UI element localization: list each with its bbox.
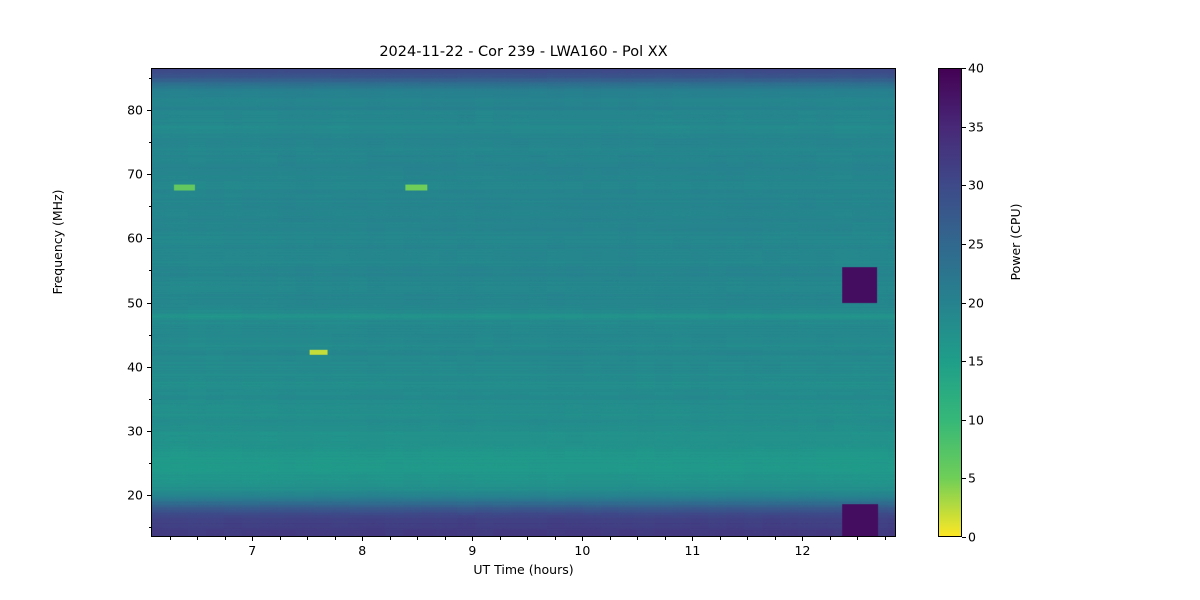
y-axis-tick-label: 70 xyxy=(103,167,143,182)
colorbar-tick xyxy=(962,303,966,304)
x-axis-minor-tick xyxy=(170,537,171,540)
colorbar-tick-label: 5 xyxy=(968,471,976,486)
x-axis-minor-tick xyxy=(637,537,638,540)
x-axis-minor-tick xyxy=(527,537,528,540)
x-axis-minor-tick xyxy=(390,537,391,540)
y-axis-minor-tick xyxy=(149,399,152,400)
x-axis-minor-tick xyxy=(747,537,748,540)
y-axis-tick-label: 40 xyxy=(103,359,143,374)
colorbar-tick-label: 15 xyxy=(968,354,984,369)
y-axis-tick xyxy=(147,303,151,304)
x-axis-tick xyxy=(472,537,473,541)
x-axis-minor-tick xyxy=(445,537,446,540)
x-axis-minor-tick xyxy=(830,537,831,540)
spectrogram-axes[interactable] xyxy=(151,68,896,537)
y-axis-minor-tick xyxy=(149,206,152,207)
y-axis-tick-label: 50 xyxy=(103,295,143,310)
x-axis-minor-tick xyxy=(335,537,336,540)
colorbar-tick xyxy=(962,244,966,245)
x-axis-tick xyxy=(362,537,363,541)
x-axis-minor-tick xyxy=(307,537,308,540)
colorbar-tick-label: 30 xyxy=(968,178,984,193)
y-axis-minor-tick xyxy=(149,527,152,528)
x-axis-tick-label: 7 xyxy=(227,543,277,558)
x-axis-tick xyxy=(582,537,583,541)
x-axis-minor-tick xyxy=(280,537,281,540)
colorbar-tick xyxy=(962,127,966,128)
x-axis-tick-label: 9 xyxy=(447,543,497,558)
y-axis-minor-tick xyxy=(149,78,152,79)
x-axis-minor-tick xyxy=(610,537,611,540)
y-axis-minor-tick xyxy=(149,270,152,271)
y-axis-tick xyxy=(147,431,151,432)
x-axis-minor-tick xyxy=(720,537,721,540)
colorbar-tick xyxy=(962,478,966,479)
page-title: 2024-11-22 - Cor 239 - LWA160 - Pol XX xyxy=(151,44,896,60)
colorbar-tick xyxy=(962,361,966,362)
figure-canvas: 2024-11-22 - Cor 239 - LWA160 - Pol XX F… xyxy=(0,0,1200,600)
x-axis-minor-tick xyxy=(417,537,418,540)
colorbar-label: Power (CPU) xyxy=(1008,142,1023,342)
x-axis-minor-tick xyxy=(885,537,886,540)
y-axis-label: Frequency (MHz) xyxy=(50,142,65,342)
y-axis-tick-label: 80 xyxy=(103,103,143,118)
spectrogram-heatmap xyxy=(152,69,895,536)
x-axis-minor-tick xyxy=(857,537,858,540)
y-axis-minor-tick xyxy=(149,335,152,336)
y-axis-tick-label: 60 xyxy=(103,231,143,246)
x-axis-minor-tick xyxy=(197,537,198,540)
x-axis-tick-label: 8 xyxy=(337,543,387,558)
x-axis-minor-tick xyxy=(775,537,776,540)
y-axis-tick xyxy=(147,495,151,496)
colorbar-tick xyxy=(962,420,966,421)
colorbar-tick-label: 35 xyxy=(968,119,984,134)
y-axis-tick xyxy=(147,110,151,111)
colorbar-tick xyxy=(962,185,966,186)
x-axis-minor-tick xyxy=(665,537,666,540)
x-axis-tick-label: 12 xyxy=(777,543,827,558)
colorbar-tick xyxy=(962,68,966,69)
colorbar-tick xyxy=(962,537,966,538)
x-axis-tick xyxy=(252,537,253,541)
colorbar[interactable] xyxy=(938,68,962,537)
colorbar-tick-label: 40 xyxy=(968,61,984,76)
x-axis-tick xyxy=(692,537,693,541)
y-axis-tick xyxy=(147,238,151,239)
colorbar-tick-label: 20 xyxy=(968,295,984,310)
y-axis-tick-label: 30 xyxy=(103,423,143,438)
y-axis-tick-label: 20 xyxy=(103,487,143,502)
colorbar-gradient xyxy=(939,69,961,536)
colorbar-tick-label: 0 xyxy=(968,530,976,545)
colorbar-tick-label: 10 xyxy=(968,412,984,427)
x-axis-minor-tick xyxy=(555,537,556,540)
x-axis-tick-label: 10 xyxy=(557,543,607,558)
y-axis-minor-tick xyxy=(149,142,152,143)
x-axis-minor-tick xyxy=(500,537,501,540)
x-axis-label: UT Time (hours) xyxy=(151,562,896,577)
x-axis-minor-tick xyxy=(225,537,226,540)
x-axis-tick-label: 11 xyxy=(667,543,717,558)
y-axis-tick xyxy=(147,367,151,368)
y-axis-minor-tick xyxy=(149,463,152,464)
y-axis-tick xyxy=(147,174,151,175)
colorbar-tick-label: 25 xyxy=(968,236,984,251)
x-axis-tick xyxy=(802,537,803,541)
